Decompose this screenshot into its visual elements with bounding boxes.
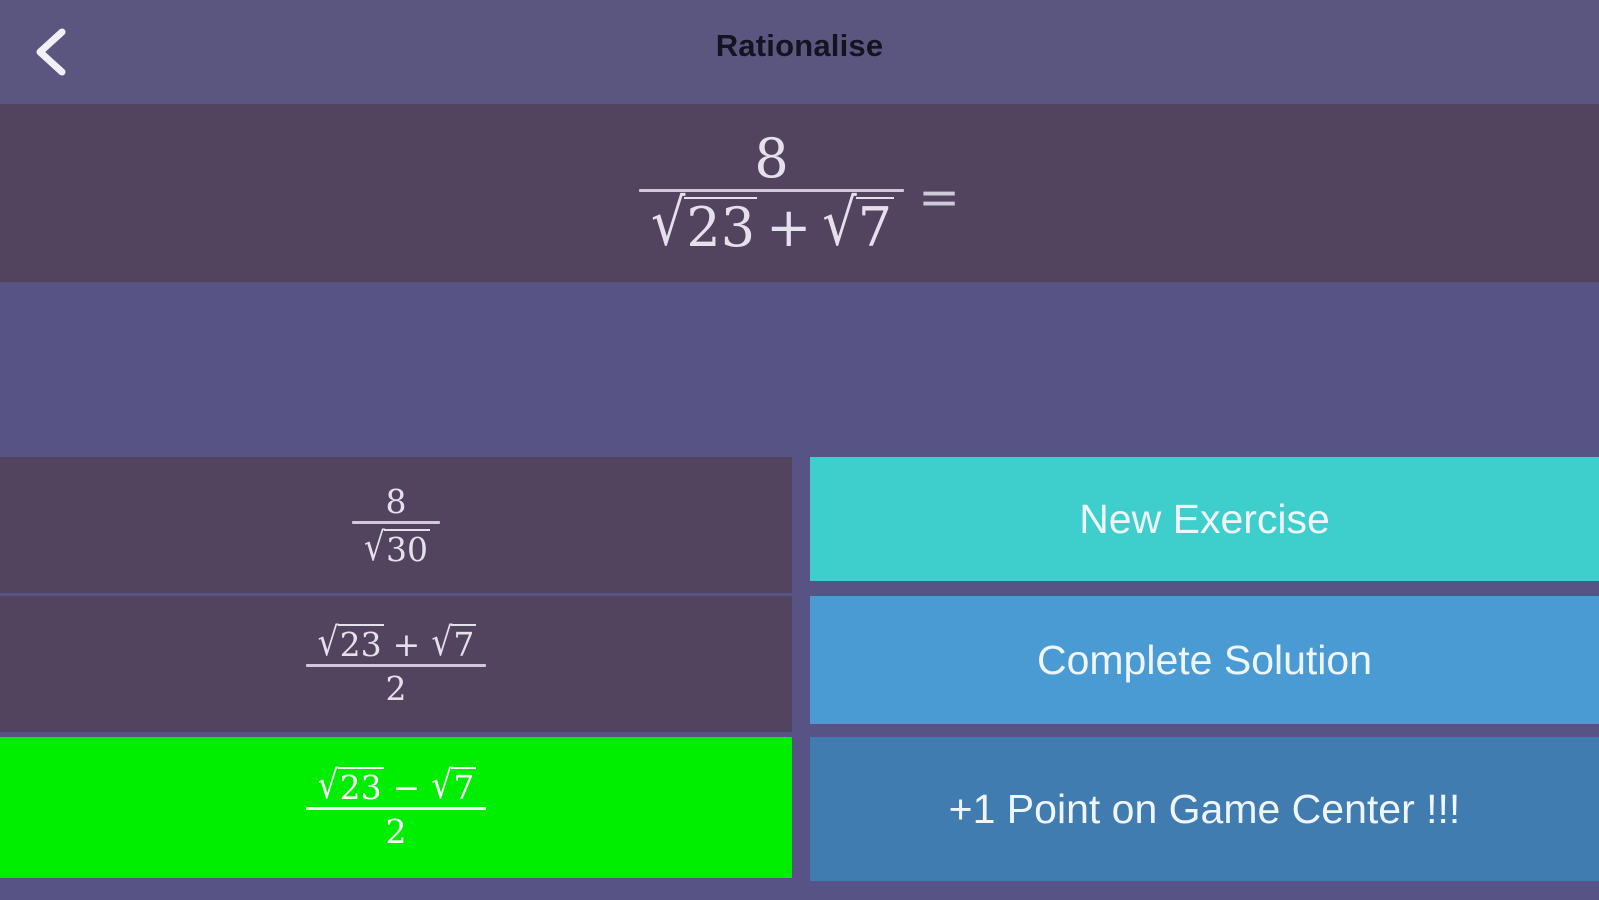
answer-option-3[interactable]: √23 − √7 2: [0, 737, 792, 878]
math-quiz-app: Rationalise 8 √23 + √7 =: [0, 0, 1599, 900]
radical-symbol: √: [651, 191, 685, 255]
radical-symbol: √: [318, 622, 339, 661]
equals-sign: =: [918, 168, 960, 226]
question-fraction: 8 √23 + √7: [639, 132, 904, 255]
option-3-numerator: √23 − √7: [306, 767, 487, 807]
radicand-value: 23: [338, 624, 384, 661]
game-center-point-button[interactable]: +1 Point on Game Center !!!: [810, 737, 1599, 881]
option-3-denominator: 2: [306, 810, 487, 848]
sqrt-23: √23: [649, 197, 757, 255]
answer-option-2[interactable]: √23 + √7 2: [0, 596, 792, 732]
radicand-value: 7: [451, 767, 476, 804]
radical-symbol: √: [431, 622, 452, 661]
sqrt-23: √23: [316, 767, 384, 804]
sqrt-7: √7: [820, 197, 894, 255]
sqrt-7: √7: [429, 767, 476, 804]
option-2-denominator: 2: [306, 667, 487, 705]
new-exercise-button[interactable]: New Exercise: [810, 457, 1599, 581]
radical-symbol: √: [822, 191, 856, 255]
option-2-numerator: √23 + √7: [306, 624, 487, 664]
radical-symbol: √: [318, 765, 339, 804]
option-1-denominator: √30: [352, 524, 440, 566]
answer-option-1[interactable]: 8 √30: [0, 457, 792, 593]
question-panel: 8 √23 + √7 =: [0, 104, 1599, 282]
question-denominator: √23 + √7: [639, 192, 904, 255]
question-numerator: 8: [639, 132, 904, 189]
sqrt-7: √7: [429, 624, 476, 661]
answer-display-area[interactable]: [0, 282, 1599, 454]
numerator-operator: +: [384, 625, 430, 664]
radicand-value: 7: [451, 624, 476, 661]
radical-symbol: √: [364, 527, 385, 566]
option-1-numerator: 8: [352, 485, 440, 521]
numerator-operator: −: [384, 768, 430, 807]
question-expression: 8 √23 + √7 =: [0, 104, 1599, 282]
radicand-value: 23: [338, 767, 384, 804]
sqrt-30: √30: [362, 529, 430, 566]
sqrt-23: √23: [316, 624, 384, 661]
page-title: Rationalise: [0, 28, 1599, 64]
complete-solution-button[interactable]: Complete Solution: [810, 596, 1599, 724]
denominator-operator: +: [757, 196, 820, 259]
radicand-value: 30: [384, 529, 430, 566]
radical-symbol: √: [431, 765, 452, 804]
radicand-value: 7: [856, 197, 894, 255]
app-header: Rationalise: [0, 0, 1599, 104]
radicand-value: 23: [684, 197, 757, 255]
